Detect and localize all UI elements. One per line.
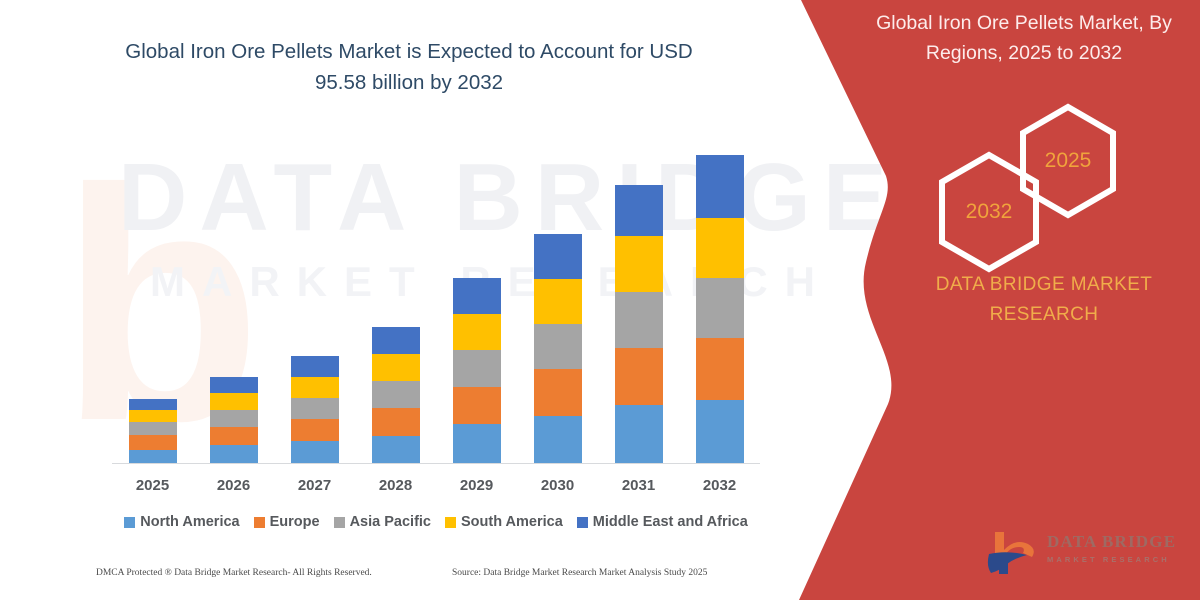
- logo-text: DATA BRIDGE MARKET RESEARCH: [1047, 532, 1175, 564]
- hexagon-2025-label: 2025: [1016, 102, 1120, 220]
- panel-title: Global Iron Ore Pellets Market, By Regio…: [856, 8, 1192, 68]
- infographic-canvas: b DATA BRIDGE MARKET RESEARCH Global Iro…: [0, 0, 1200, 600]
- brand-line-1: DATA BRIDGE MARKET: [900, 270, 1188, 300]
- logo-subtitle: MARKET RESEARCH: [1047, 555, 1175, 564]
- hexagon-group: 2032 2025: [920, 100, 1140, 230]
- brand-name: DATA BRIDGE MARKET RESEARCH: [900, 270, 1188, 330]
- brand-line-2: RESEARCH: [900, 300, 1188, 330]
- logo-mark-icon: [985, 530, 1041, 576]
- red-panel-content: Global Iron Ore Pellets Market, By Regio…: [0, 0, 1200, 600]
- data-bridge-logo: DATA BRIDGE MARKET RESEARCH: [985, 528, 1175, 578]
- logo-title: DATA BRIDGE: [1047, 532, 1175, 552]
- hexagon-2025: 2025: [1016, 102, 1120, 220]
